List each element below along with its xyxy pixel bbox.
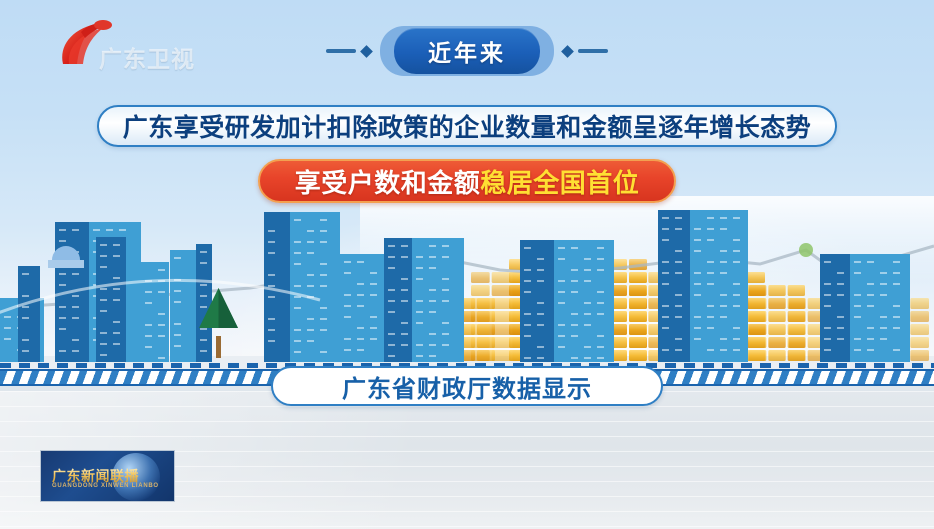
coin-cell bbox=[629, 285, 646, 296]
headline-text: 广东享受研发加计扣除政策的企业数量和金额呈逐年增长态势 bbox=[123, 108, 812, 144]
building bbox=[340, 254, 384, 362]
coin-cell bbox=[768, 350, 785, 361]
deco-diamond-right-icon bbox=[561, 45, 574, 58]
trend-node bbox=[799, 243, 813, 257]
deco-dash-right-icon bbox=[578, 49, 608, 53]
deco-diamond-left-icon bbox=[360, 45, 373, 58]
coin-cell bbox=[789, 337, 806, 348]
coin-cell bbox=[629, 311, 646, 322]
deco-dash-left-icon bbox=[326, 49, 356, 53]
coin-cell bbox=[749, 298, 766, 309]
building bbox=[96, 237, 126, 362]
deco-left bbox=[326, 47, 371, 56]
coin-cell bbox=[471, 311, 490, 322]
source-banner: 广东省财政厅数据显示 bbox=[271, 366, 663, 406]
coin-cell bbox=[789, 298, 806, 309]
program-logo: 广东新闻联播 GUANGDONG XINWEN LIANBO bbox=[40, 450, 175, 502]
coin-cell bbox=[492, 298, 511, 309]
building bbox=[520, 240, 554, 362]
building bbox=[412, 238, 464, 362]
coin-cell bbox=[768, 311, 785, 322]
coin-cell bbox=[749, 324, 766, 335]
source-banner-label: 广东省财政厅数据显示 bbox=[342, 369, 592, 404]
illustration-scene bbox=[0, 196, 934, 372]
building bbox=[690, 210, 748, 362]
building bbox=[820, 254, 850, 362]
dome-base bbox=[48, 260, 84, 268]
building bbox=[850, 254, 910, 362]
coin-cell bbox=[788, 285, 805, 296]
coin-cell bbox=[768, 324, 785, 335]
coin-cell bbox=[789, 324, 806, 335]
red-highlight-banner: 享受户数和金额 稳居全国首位 bbox=[258, 159, 676, 203]
deco-right bbox=[563, 47, 608, 56]
top-pill-label: 近年来 bbox=[428, 40, 506, 66]
top-pill-inner: 近年来 bbox=[394, 28, 540, 74]
red-banner-yellow-text: 稳居全国首位 bbox=[480, 163, 639, 200]
headline-banner: 广东享受研发加计扣除政策的企业数量和金额呈逐年增长态势 bbox=[97, 105, 837, 147]
scene-svg bbox=[0, 196, 934, 372]
program-logo-en: GUANGDONG XINWEN LIANBO bbox=[52, 483, 159, 489]
coin-cell bbox=[492, 324, 511, 335]
coin-cell bbox=[910, 324, 929, 335]
top-pill: 近年来 bbox=[380, 26, 554, 76]
coin-cell bbox=[629, 324, 646, 335]
building bbox=[196, 244, 212, 362]
building bbox=[554, 240, 614, 362]
coin-cell bbox=[629, 350, 646, 361]
coin-cell bbox=[910, 311, 929, 322]
coin-cell bbox=[471, 298, 490, 309]
coin-cell bbox=[789, 350, 806, 361]
coin-cell bbox=[910, 350, 929, 361]
coin-cell bbox=[492, 311, 511, 322]
coin-cell bbox=[768, 337, 785, 348]
coin-cell bbox=[768, 298, 785, 309]
coin-cell bbox=[492, 337, 511, 348]
top-pill-row: 近年来 bbox=[0, 28, 934, 74]
building bbox=[384, 238, 412, 362]
coin-cell bbox=[768, 285, 785, 296]
building bbox=[18, 266, 40, 362]
coin-cell bbox=[749, 311, 766, 322]
building bbox=[658, 210, 690, 362]
coin-cell bbox=[492, 350, 511, 361]
building bbox=[290, 212, 340, 362]
building bbox=[170, 250, 196, 362]
coin-cell bbox=[749, 350, 766, 361]
coin-cell bbox=[749, 285, 766, 296]
coin-cell bbox=[629, 337, 646, 348]
building bbox=[141, 262, 169, 362]
broadcast-graphic: 广东卫视 近年来 广东享受研发加计扣除政策的企业数量和金额呈逐年增长态势 享受户… bbox=[0, 0, 934, 529]
coin-stack bbox=[749, 285, 805, 361]
coin-cell bbox=[471, 324, 490, 335]
coin-cell bbox=[471, 337, 490, 348]
red-banner-white-text: 享受户数和金额 bbox=[295, 163, 481, 200]
coin-cell bbox=[471, 285, 490, 296]
coin-cell bbox=[910, 337, 929, 348]
coin-cell bbox=[629, 298, 646, 309]
coin-cell bbox=[492, 285, 511, 296]
coin-cell bbox=[910, 298, 929, 309]
coin-cell bbox=[471, 350, 490, 361]
coin-cell bbox=[749, 337, 766, 348]
coin-cell bbox=[789, 311, 806, 322]
